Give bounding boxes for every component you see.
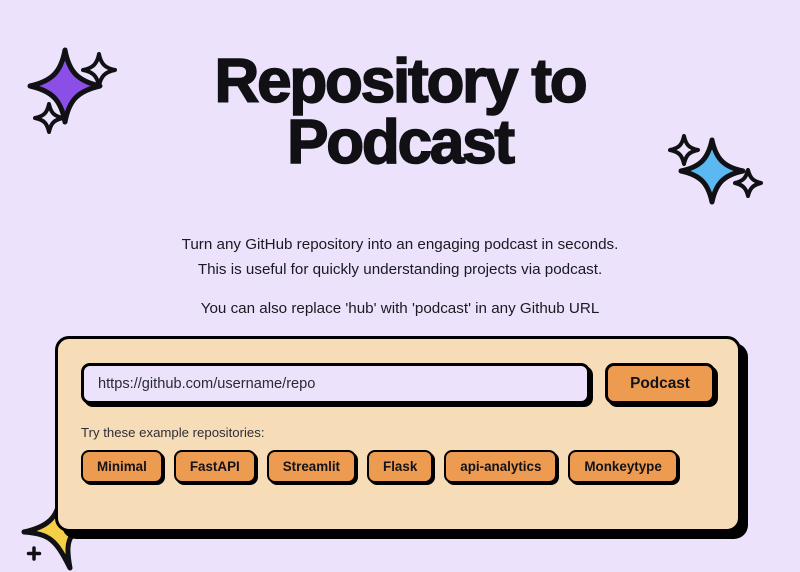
- generate-podcast-button[interactable]: Podcast: [605, 363, 715, 404]
- description-line-2: This is useful for quickly understanding…: [0, 257, 800, 282]
- description-line-1: Turn any GitHub repository into an engag…: [0, 232, 800, 257]
- card-content: Podcast Try these example repositories: …: [55, 336, 741, 532]
- example-repo-chips: Minimal FastAPI Streamlit Flask api-anal…: [81, 450, 715, 483]
- description-line-3: You can also replace 'hub' with 'podcast…: [0, 296, 800, 321]
- page-description: Turn any GitHub repository into an engag…: [0, 232, 800, 321]
- page-title-line-1: Repository to: [0, 52, 800, 113]
- page-title: Repository to Podcast: [0, 52, 800, 174]
- example-chip-fastapi[interactable]: FastAPI: [174, 450, 256, 483]
- example-chip-api-analytics[interactable]: api-analytics: [444, 450, 557, 483]
- repo-form: Podcast: [81, 363, 715, 404]
- example-chip-flask[interactable]: Flask: [367, 450, 433, 483]
- example-chip-minimal[interactable]: Minimal: [81, 450, 163, 483]
- landing-page: Repository to Podcast Turn any GitHub re…: [0, 0, 800, 572]
- page-title-line-2: Podcast: [0, 113, 800, 174]
- example-chip-monkeytype[interactable]: Monkeytype: [568, 450, 677, 483]
- example-chip-streamlit[interactable]: Streamlit: [267, 450, 356, 483]
- repo-input-card: Podcast Try these example repositories: …: [55, 336, 741, 532]
- examples-label: Try these example repositories:: [81, 425, 715, 440]
- repo-url-input[interactable]: [81, 363, 590, 404]
